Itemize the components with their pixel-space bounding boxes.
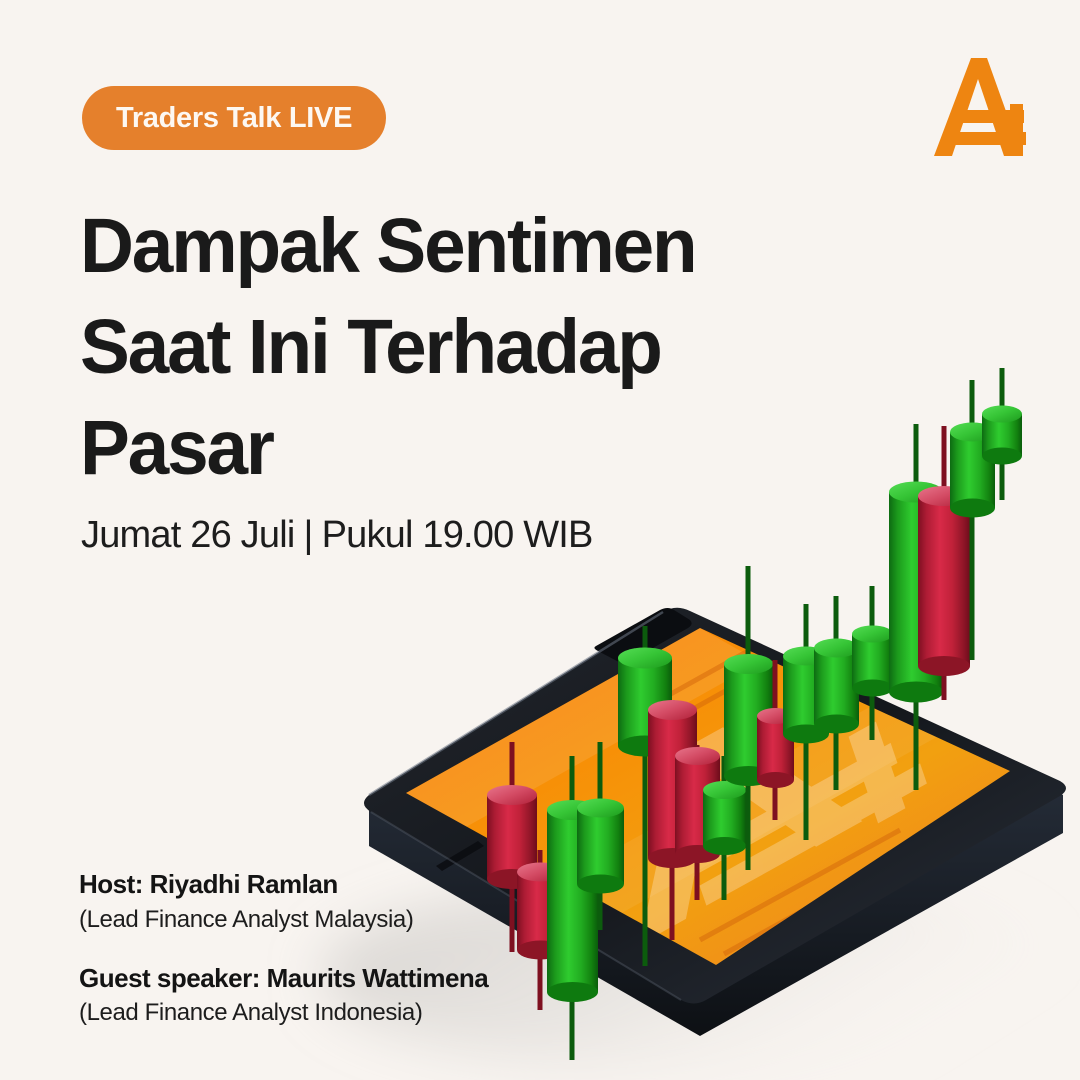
credit-host-role: (Lead Finance Analyst Malaysia): [79, 904, 488, 935]
credit-guest-role: (Lead Finance Analyst Indonesia): [79, 997, 488, 1028]
schedule-line: Jumat 26 Juli|Pukul 19.00 WIB: [81, 514, 593, 557]
headline-line-1: Dampak Sentimen: [80, 196, 759, 297]
schedule-separator: |: [294, 514, 321, 556]
schedule-time: Pukul 19.00 WIB: [322, 514, 593, 556]
credit-host-name: Host: Riyadhi Ramlan: [79, 868, 488, 901]
headline-line-3: Pasar: [80, 398, 759, 499]
brand-a-monogram-icon: [930, 52, 1038, 162]
credits-block: Host: Riyadhi Ramlan (Lead Finance Analy…: [79, 868, 488, 1028]
live-badge[interactable]: Traders Talk LIVE: [82, 86, 386, 150]
poster-canvas: Traders Talk LIVE Dampak Sentimen Saat I…: [0, 0, 1080, 1080]
credit-host: Host: Riyadhi Ramlan (Lead Finance Analy…: [79, 868, 488, 935]
headline-line-2: Saat Ini Terhadap: [80, 297, 759, 398]
credit-guest: Guest speaker: Maurits Wattimena (Lead F…: [79, 962, 488, 1029]
page-title: Dampak Sentimen Saat Ini Terhadap Pasar: [80, 196, 759, 499]
credit-guest-name: Guest speaker: Maurits Wattimena: [79, 962, 488, 995]
schedule-date: Jumat 26 Juli: [81, 514, 294, 556]
